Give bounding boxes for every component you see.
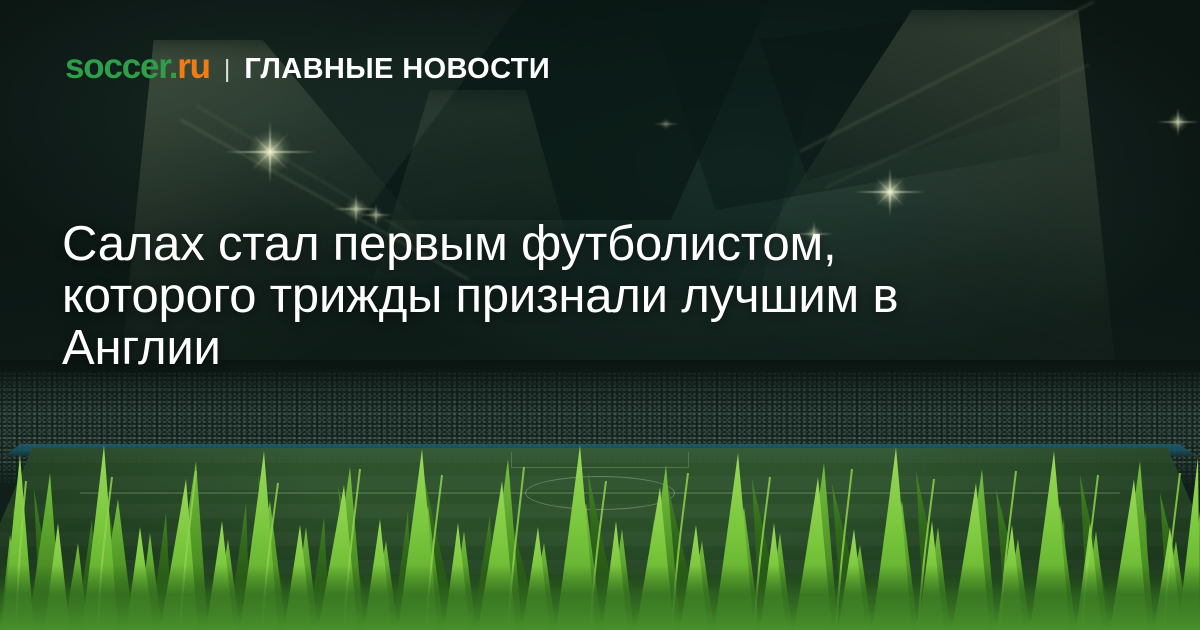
headline-line-3: Англии xyxy=(62,322,1142,374)
section-kicker: ГЛАВНЫЕ НОВОСТИ xyxy=(244,55,550,84)
logo-tld: ru xyxy=(177,47,210,86)
brand-bar: soccer.ru | ГЛАВНЫЕ НОВОСТИ xyxy=(65,49,550,84)
logo-dot: . xyxy=(169,47,178,86)
headline-line-1: Салах стал первым футболистом, xyxy=(62,218,1142,270)
page-title: Салах стал первым футболистом, которого … xyxy=(62,218,1142,374)
news-share-card: soccer.ru | ГЛАВНЫЕ НОВОСТИ Салах стал п… xyxy=(0,0,1200,630)
logo-word: soccer xyxy=(65,47,169,86)
headline-line-2: которого трижды признали лучшим в xyxy=(62,270,1142,322)
card-content: soccer.ru | ГЛАВНЫЕ НОВОСТИ Салах стал п… xyxy=(0,0,1200,630)
soccer-ru-logo[interactable]: soccer.ru xyxy=(65,49,210,84)
brand-separator: | xyxy=(224,57,231,82)
